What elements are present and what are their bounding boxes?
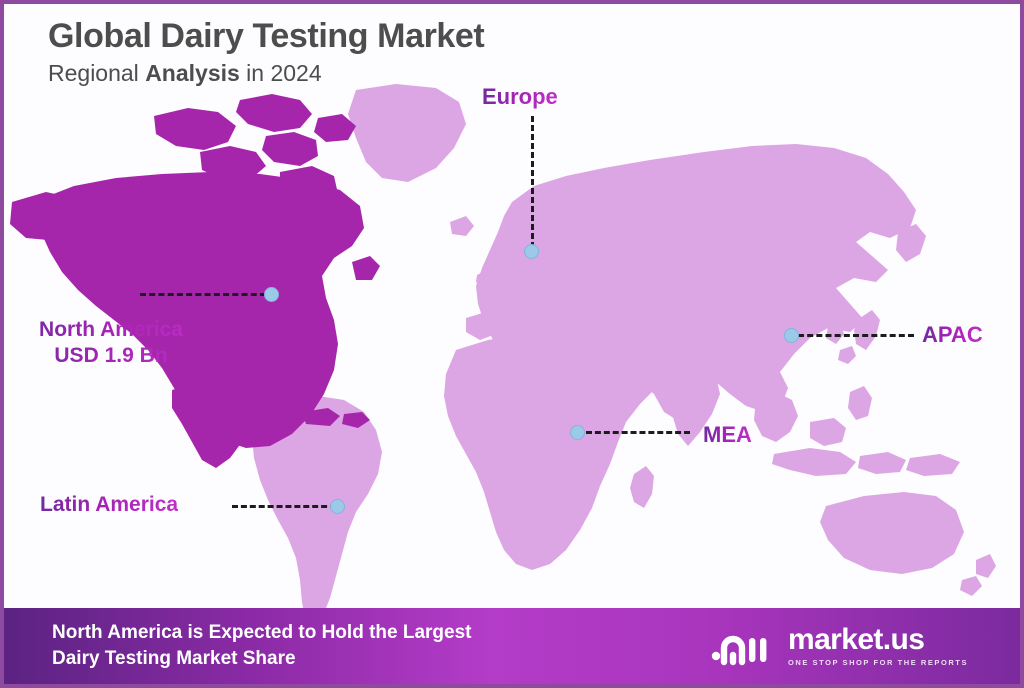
- connector-apac: [798, 334, 914, 337]
- region-japan-south: [838, 346, 856, 364]
- footer-banner: North America is Expected to Hold the La…: [4, 608, 1020, 684]
- region-label-mea-text: MEA: [703, 422, 752, 447]
- region-newfoundland: [352, 256, 380, 280]
- footer-statement-line2: Dairy Testing Market Share: [52, 646, 472, 672]
- region-canada-arctic-4: [262, 132, 318, 166]
- map-regions-other: [222, 84, 996, 612]
- marker-apac[interactable]: [784, 328, 799, 343]
- region-canada-arctic-1: [154, 108, 236, 150]
- footer-statement: North America is Expected to Hold the La…: [52, 620, 472, 671]
- marker-latin-america[interactable]: [330, 499, 345, 514]
- marker-north-america[interactable]: [264, 287, 279, 302]
- region-label-latin-america[interactable]: Latin America: [40, 492, 178, 518]
- region-indonesia-2: [858, 452, 906, 474]
- region-label-north-america-value: USD 1.9 Bn: [16, 343, 206, 369]
- region-label-latin-america-text: Latin America: [40, 493, 178, 516]
- region-madagascar: [630, 466, 654, 508]
- connector-latin-america: [232, 505, 336, 508]
- marker-europe[interactable]: [524, 244, 539, 259]
- region-label-north-america[interactable]: North America USD 1.9 Bn: [16, 317, 206, 370]
- map-regions-highlighted: [10, 94, 380, 468]
- connector-mea: [586, 431, 690, 434]
- region-label-europe-text: Europe: [482, 84, 558, 109]
- region-canada-arctic-2: [236, 94, 312, 132]
- region-philippines: [848, 386, 872, 420]
- logo-tagline: ONE STOP SHOP FOR THE REPORTS: [788, 658, 968, 667]
- region-australia: [820, 492, 964, 574]
- connector-europe: [531, 116, 534, 248]
- infographic-canvas: Global Dairy Testing Market Regional Ana…: [0, 0, 1024, 688]
- region-borneo: [810, 418, 846, 446]
- region-new-zealand: [976, 554, 996, 578]
- region-iceland: [450, 216, 474, 236]
- header: Global Dairy Testing Market Regional Ana…: [48, 18, 484, 87]
- connector-north-america: [140, 293, 266, 296]
- region-new-zealand-south: [960, 576, 982, 596]
- market-us-logo-icon: [711, 626, 777, 666]
- region-label-north-america-name: North America: [16, 317, 206, 343]
- region-label-apac[interactable]: APAC: [922, 321, 983, 349]
- region-label-apac-text: APAC: [922, 322, 983, 347]
- footer-statement-line1: North America is Expected to Hold the La…: [52, 620, 472, 646]
- logo-wordmark: market.us ONE STOP SHOP FOR THE REPORTS: [788, 625, 968, 667]
- page-title: Global Dairy Testing Market: [48, 18, 484, 55]
- region-greenland: [348, 84, 466, 182]
- region-southeast-asia: [754, 392, 798, 442]
- region-label-mea[interactable]: MEA: [703, 421, 752, 449]
- region-indonesia-1: [772, 448, 856, 476]
- marker-mea[interactable]: [570, 425, 585, 440]
- market-us-logo[interactable]: market.us ONE STOP SHOP FOR THE REPORTS: [711, 625, 996, 667]
- region-new-guinea: [906, 454, 960, 476]
- logo-name: market.us: [788, 625, 924, 655]
- region-africa: [444, 332, 664, 570]
- region-label-europe[interactable]: Europe: [482, 83, 558, 111]
